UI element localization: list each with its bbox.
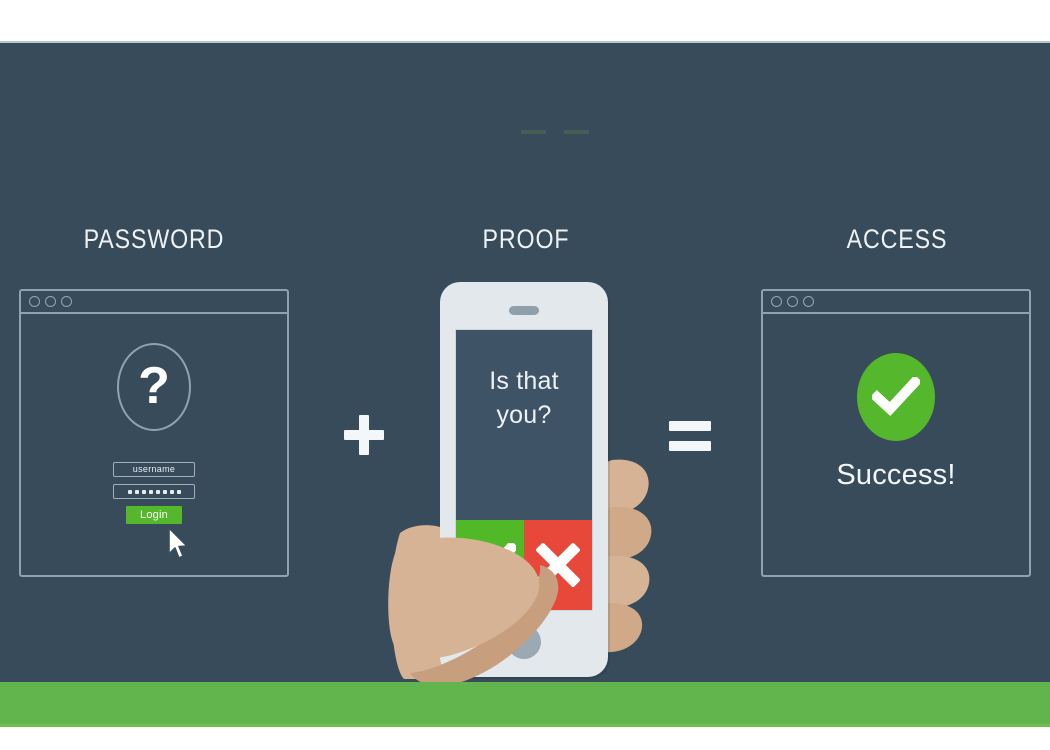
password-heading: PASSWORD bbox=[51, 224, 257, 255]
browser-titlebar-right bbox=[763, 291, 1029, 314]
question-mark-icon: ? bbox=[117, 343, 191, 431]
proof-heading: PROOF bbox=[423, 224, 629, 255]
status-badge: Success! bbox=[763, 461, 1029, 490]
mouse-pointer-icon bbox=[168, 527, 190, 561]
check-icon bbox=[872, 377, 920, 417]
access-heading: ACCESS bbox=[794, 224, 1000, 255]
browser-titlebar-left bbox=[21, 291, 287, 314]
question-mark-glyph: ? bbox=[138, 360, 170, 412]
bottom-green-band bbox=[0, 682, 1050, 727]
faint-dash-right bbox=[564, 130, 589, 134]
proof-phone-group: Is that you? bbox=[380, 275, 670, 695]
top-white-band bbox=[0, 0, 1050, 41]
minimize-dot-icon[interactable] bbox=[787, 296, 798, 307]
plus-icon bbox=[344, 415, 384, 455]
password-input[interactable] bbox=[113, 484, 195, 499]
access-browser-window: Success! bbox=[761, 289, 1031, 577]
minimize-dot-icon[interactable] bbox=[45, 296, 56, 307]
username-input-value: username bbox=[133, 465, 175, 474]
access-window-body: Success! bbox=[763, 314, 1029, 575]
login-button-label: Login bbox=[140, 510, 168, 521]
equals-icon bbox=[669, 421, 711, 451]
password-browser-window: ? username Login bbox=[19, 289, 289, 577]
close-dot-icon[interactable] bbox=[771, 296, 782, 307]
check-circle-icon bbox=[857, 353, 935, 441]
maximize-dot-icon[interactable] bbox=[803, 296, 814, 307]
illustration-canvas: PASSWORD ? username Login bbox=[0, 0, 1050, 750]
maximize-dot-icon[interactable] bbox=[61, 296, 72, 307]
close-dot-icon[interactable] bbox=[29, 296, 40, 307]
username-input[interactable]: username bbox=[113, 462, 195, 477]
faint-dash-left bbox=[521, 130, 546, 134]
password-masked-dots bbox=[128, 490, 181, 494]
login-button[interactable]: Login bbox=[126, 506, 182, 524]
hand-palm-front-icon bbox=[380, 275, 670, 695]
password-window-body: ? username Login bbox=[21, 314, 287, 575]
bottom-white-band bbox=[0, 727, 1050, 750]
